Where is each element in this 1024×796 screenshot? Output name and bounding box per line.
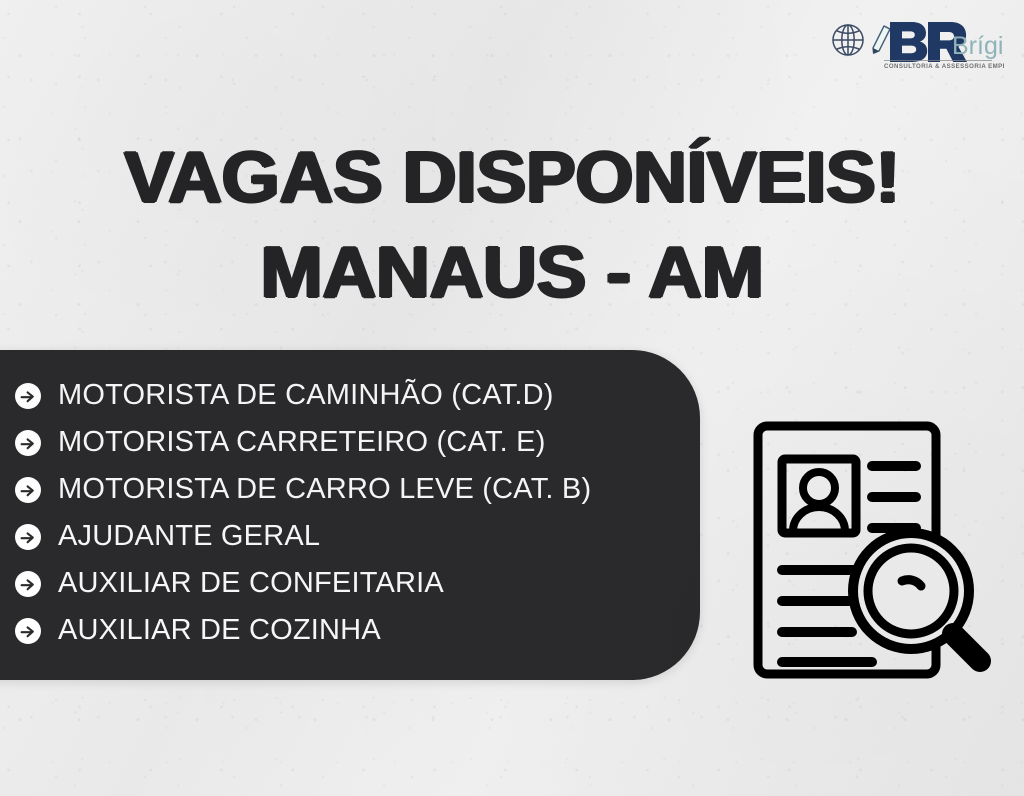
job-title: MOTORISTA CARRETEIRO (CAT. E) <box>58 426 546 459</box>
arrow-right-circle-icon <box>14 617 42 645</box>
magnifying-glass-icon <box>853 533 980 661</box>
job-title: MOTORISTA DE CARRO LEVE (CAT. B) <box>58 473 591 506</box>
logo-name-text: Brígida <box>952 32 1004 60</box>
arrow-right-circle-icon <box>14 570 42 598</box>
arrow-right-circle-icon <box>14 382 42 410</box>
headline-line-2: MANAUS - AM <box>0 233 1024 314</box>
logo-tagline-text: CONSULTORIA & ASSESSORIA EMPRESARIAL <box>884 63 1004 70</box>
globe-icon <box>833 25 863 55</box>
page-title: VAGAS DISPONÍVEIS! MANAUS - AM <box>0 138 1024 313</box>
pencil-icon <box>873 26 890 53</box>
job-title: MOTORISTA DE CAMINHÃO (CAT.D) <box>58 379 554 412</box>
job-list: MOTORISTA DE CAMINHÃO (CAT.D) MOTORISTA … <box>0 372 700 654</box>
job-title: AUXILIAR DE COZINHA <box>58 614 381 647</box>
list-item: AUXILIAR DE COZINHA <box>14 607 700 654</box>
list-item: MOTORISTA DE CAMINHÃO (CAT.D) <box>14 372 700 419</box>
job-title: AJUDANTE GERAL <box>58 520 320 553</box>
person-icon <box>793 472 845 531</box>
headline-line-1: VAGAS DISPONÍVEIS! <box>0 138 1024 219</box>
job-list-panel: MOTORISTA DE CAMINHÃO (CAT.D) MOTORISTA … <box>0 350 700 680</box>
arrow-right-circle-icon <box>14 523 42 551</box>
job-title: AUXILIAR DE CONFEITARIA <box>58 567 444 600</box>
resume-search-icon <box>752 418 1006 680</box>
brand-logo: Brígida CONSULTORIA & ASSESSORIA EMPRESA… <box>826 12 1004 72</box>
list-item: AUXILIAR DE CONFEITARIA <box>14 560 700 607</box>
arrow-right-circle-icon <box>14 476 42 504</box>
arrow-right-circle-icon <box>14 429 42 457</box>
list-item: MOTORISTA CARRETEIRO (CAT. E) <box>14 419 700 466</box>
list-item: MOTORISTA DE CARRO LEVE (CAT. B) <box>14 466 700 513</box>
list-item: AJUDANTE GERAL <box>14 513 700 560</box>
poster-canvas: Brígida CONSULTORIA & ASSESSORIA EMPRESA… <box>0 0 1024 796</box>
